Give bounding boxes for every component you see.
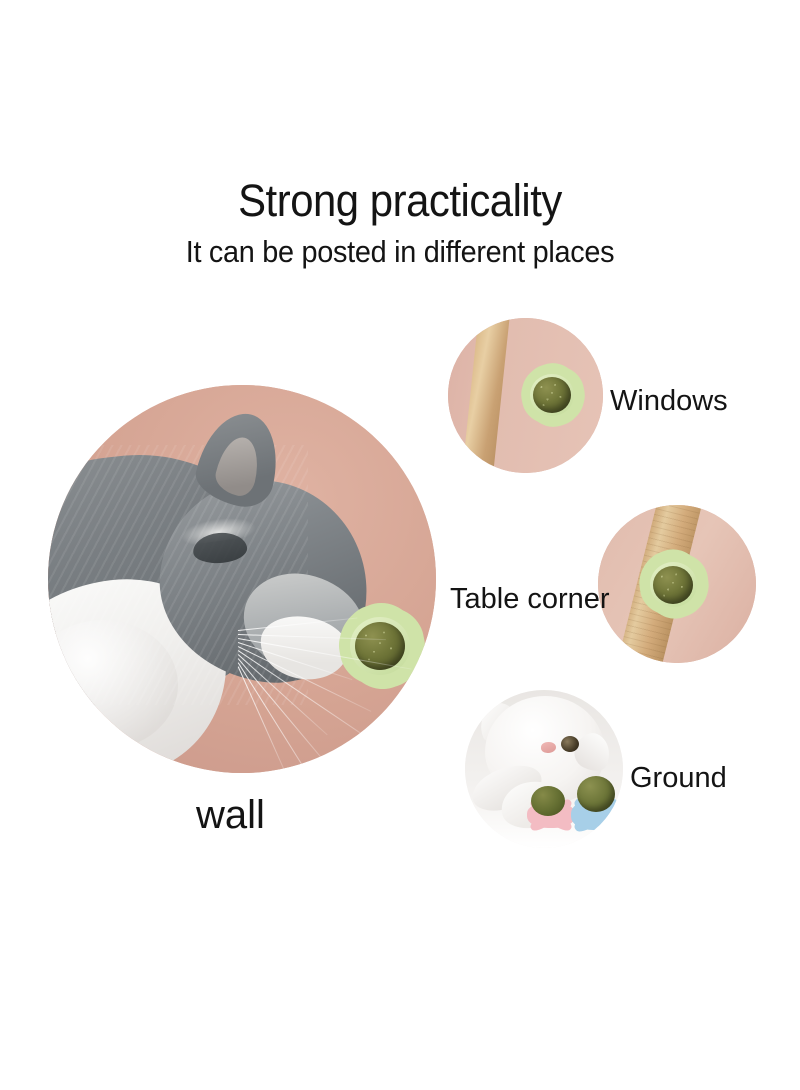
scene-label-table-corner: Table corner: [450, 583, 610, 616]
headline-block: Strong practicality It can be posted in …: [0, 178, 800, 267]
whisker: [237, 658, 333, 772]
scene-photo-table-corner: [598, 505, 756, 663]
scene-photo-windows: [448, 318, 603, 473]
scene-photo-ground: [465, 690, 623, 848]
catnip-ball: [533, 377, 571, 413]
scene-label-wall: wall: [196, 793, 265, 838]
scene-label-ground: Ground: [630, 762, 727, 795]
page-title: Strong practicality: [28, 178, 772, 223]
scene-label-windows: Windows: [610, 385, 728, 418]
catnip-ball: [653, 566, 693, 604]
whisker: [238, 638, 412, 670]
catnip-ball-toy-windows: [522, 366, 584, 424]
white-cat-eye: [561, 736, 579, 752]
catnip-ball-pink-toy: [531, 786, 565, 816]
whisker: [237, 662, 331, 773]
whisker: [238, 634, 386, 641]
whisker: [237, 666, 287, 773]
catnip-ball-blue-toy: [577, 776, 615, 812]
gray-cat-whiskers: [238, 620, 436, 773]
page-subtitle: It can be posted in different places: [28, 236, 772, 267]
catnip-ball-toy-table-corner: [640, 553, 708, 615]
whisker: [238, 617, 357, 631]
scene-photo-wall: [48, 385, 436, 773]
